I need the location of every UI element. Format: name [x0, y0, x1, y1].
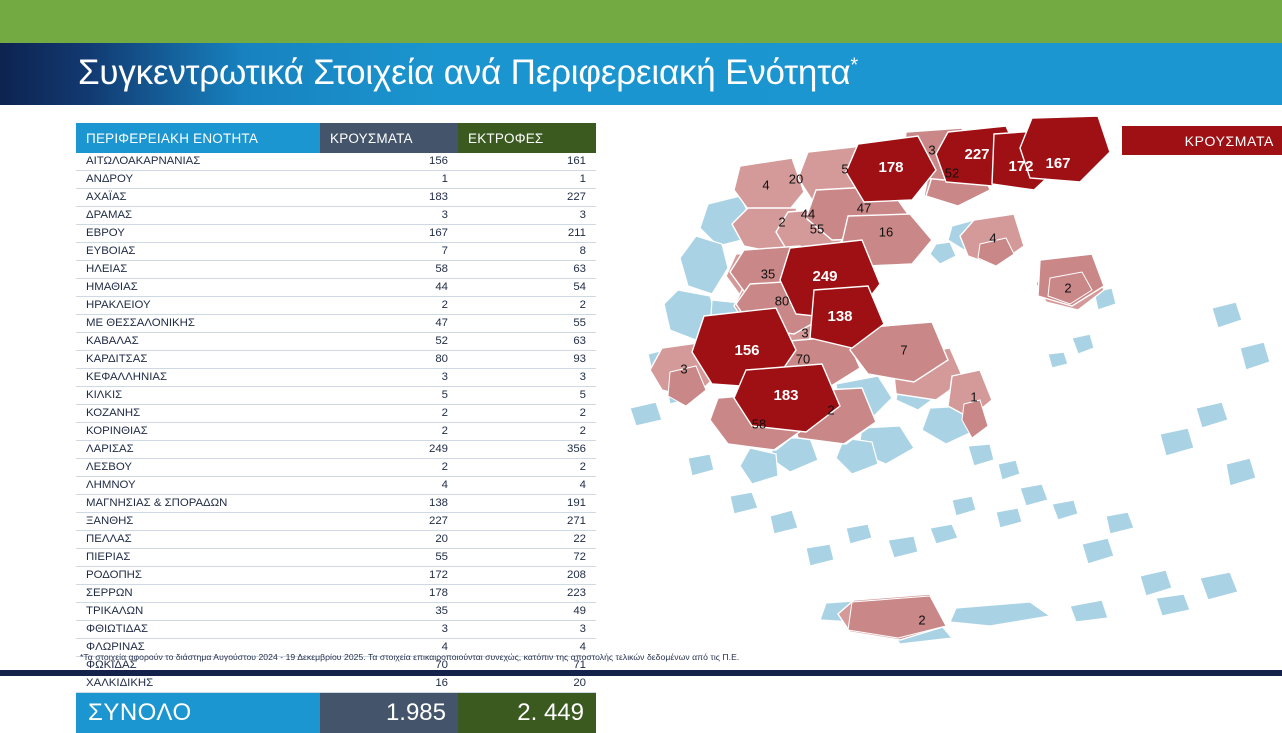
cell-cases: 167 — [320, 225, 458, 243]
cell-region: ΛΗΜΝΟΥ — [76, 477, 320, 495]
table-total-row: ΣΥΝΟΛΟ 1.985 2. 449 — [76, 693, 596, 733]
cell-region: ΔΡΑΜΑΣ — [76, 207, 320, 225]
table-row[interactable]: ΔΡΑΜΑΣ33 — [76, 207, 596, 225]
cell-region: ΧΑΛΚΙΔΙΚΗΣ — [76, 675, 320, 693]
table-row[interactable]: ΚΑΒΑΛΑΣ5263 — [76, 333, 596, 351]
map-label-androu: 1 — [970, 389, 977, 404]
cell-region: ΕΒΡΟΥ — [76, 225, 320, 243]
table-row[interactable]: ΑΙΤΩΛΟΑΚΑΡΝΑΝΙΑΣ156161 — [76, 153, 596, 171]
table-foot: ΣΥΝΟΛΟ 1.985 2. 449 — [76, 693, 596, 733]
cell-farms: 54 — [458, 279, 596, 297]
cell-cases: 47 — [320, 315, 458, 333]
cell-region: ΛΑΡΙΣΑΣ — [76, 441, 320, 459]
cell-region: ΗΜΑΘΙΑΣ — [76, 279, 320, 297]
cell-farms: 211 — [458, 225, 596, 243]
cell-region: ΑΧΑΪΑΣ — [76, 189, 320, 207]
cell-farms: 20 — [458, 675, 596, 693]
map-label-xanthis: 227 — [964, 146, 989, 163]
cell-cases: 52 — [320, 333, 458, 351]
table-row[interactable]: ΡΟΔΟΠΗΣ172208 — [76, 567, 596, 585]
cell-region: ΤΡΙΚΑΛΩΝ — [76, 603, 320, 621]
map-label-kozanis: 2 — [778, 214, 785, 229]
total-label: ΣΥΝΟΛΟ — [76, 693, 320, 733]
cell-region: ΚΕΦΑΛΛΗΝΙΑΣ — [76, 369, 320, 387]
cell-farms: 63 — [458, 333, 596, 351]
cell-cases: 138 — [320, 495, 458, 513]
total-cases: 1.985 — [320, 693, 458, 733]
map-label-trikalon: 35 — [761, 266, 775, 281]
map-label-thessalonikis: 47 — [857, 200, 871, 215]
map-label-chalkidikis: 16 — [879, 224, 893, 239]
map-label-irakleiou: 2 — [918, 612, 925, 627]
page-title: Συγκεντρωτικά Στοιχεία ανά Περιφερειακή … — [78, 53, 858, 93]
cell-farms: 55 — [458, 315, 596, 333]
cell-farms: 356 — [458, 441, 596, 459]
cell-cases: 183 — [320, 189, 458, 207]
map-label-kavalas: 52 — [945, 165, 959, 180]
column-header-farms[interactable]: ΕΚΤΡΟΦΕΣ — [458, 123, 596, 153]
cell-farms: 63 — [458, 261, 596, 279]
table-row[interactable]: ΤΡΙΚΑΛΩΝ3549 — [76, 603, 596, 621]
cell-region: ΚΑΒΑΛΑΣ — [76, 333, 320, 351]
cell-region: ΚΑΡΔΙΤΣΑΣ — [76, 351, 320, 369]
table-row[interactable]: ΣΕΡΡΩΝ178223 — [76, 585, 596, 603]
table-head: ΠΕΡΙΦΕΡΕΙΑΚΗ ΕΝΟΤΗΤΑ ΚΡΟΥΣΜΑΤΑ ΕΚΤΡΟΦΕΣ — [76, 123, 596, 153]
cell-region: ΑΝΔΡΟΥ — [76, 171, 320, 189]
cell-farms: 5 — [458, 387, 596, 405]
cell-cases: 2 — [320, 405, 458, 423]
column-header-region[interactable]: ΠΕΡΙΦΕΡΕΙΑΚΗ ΕΝΟΤΗΤΑ — [76, 123, 320, 153]
column-header-cases[interactable]: ΚΡΟΥΣΜΑΤΑ — [320, 123, 458, 153]
table-row[interactable]: ΚΟΡΙΝΘΙΑΣ22 — [76, 423, 596, 441]
cell-cases: 55 — [320, 549, 458, 567]
table-row[interactable]: ΜΕ ΘΕΣΣΑΛΟΝΙΚΗΣ4755 — [76, 315, 596, 333]
map-label-dramas: 3 — [928, 142, 935, 157]
table-row[interactable]: ΚΟΖΑΝΗΣ22 — [76, 405, 596, 423]
table-row[interactable]: ΛΗΜΝΟΥ44 — [76, 477, 596, 495]
map-label-florinas: 4 — [762, 177, 769, 192]
map-label-fthiotidas: 3 — [801, 325, 808, 340]
cell-farms: 223 — [458, 585, 596, 603]
map-label-pierias: 55 — [810, 221, 824, 236]
map-svg: 4205178352227172167244554716435249801382… — [600, 108, 1282, 653]
cell-region: ΚΙΛΚΙΣ — [76, 387, 320, 405]
table-row[interactable]: ΕΥΒΟΙΑΣ78 — [76, 243, 596, 261]
cell-region: ΠΙΕΡΙΑΣ — [76, 549, 320, 567]
total-farms: 2. 449 — [458, 693, 596, 733]
cell-region: ΗΡΑΚΛΕΙΟΥ — [76, 297, 320, 315]
cell-cases: 2 — [320, 459, 458, 477]
cell-region: ΣΕΡΡΩΝ — [76, 585, 320, 603]
map-label-fokidas: 70 — [796, 351, 810, 366]
cell-region: ΕΥΒΟΙΑΣ — [76, 243, 320, 261]
cell-cases: 3 — [320, 369, 458, 387]
cell-region: ΜΕ ΘΕΣΣΑΛΟΝΙΚΗΣ — [76, 315, 320, 333]
cell-farms: 2 — [458, 297, 596, 315]
cell-cases: 227 — [320, 513, 458, 531]
table-row[interactable]: ΛΕΣΒΟΥ22 — [76, 459, 596, 477]
cell-farms: 271 — [458, 513, 596, 531]
map-label-kilkis: 5 — [841, 161, 848, 176]
table-row[interactable]: ΗΜΑΘΙΑΣ4454 — [76, 279, 596, 297]
title-bar: Συγκεντρωτικά Στοιχεία ανά Περιφερειακή … — [0, 43, 1282, 105]
cell-cases: 2 — [320, 423, 458, 441]
cell-region: ΑΙΤΩΛΟΑΚΑΡΝΑΝΙΑΣ — [76, 153, 320, 171]
table-row[interactable]: ΑΝΔΡΟΥ11 — [76, 171, 596, 189]
map-label-serron: 178 — [878, 159, 903, 176]
cell-cases: 16 — [320, 675, 458, 693]
cell-cases: 249 — [320, 441, 458, 459]
map-label-korinthias: 2 — [827, 402, 834, 417]
cell-cases: 44 — [320, 279, 458, 297]
cell-farms: 1 — [458, 171, 596, 189]
cell-cases: 5 — [320, 387, 458, 405]
map-label-achaias: 183 — [773, 387, 798, 404]
table-row[interactable]: ΕΒΡΟΥ167211 — [76, 225, 596, 243]
table-row[interactable]: ΚΕΦΑΛΛΗΝΙΑΣ33 — [76, 369, 596, 387]
cell-region: ΗΛΕΙΑΣ — [76, 261, 320, 279]
table-row[interactable]: ΚΙΛΚΙΣ55 — [76, 387, 596, 405]
map-label-aitoloakarnanias: 156 — [734, 342, 759, 359]
cell-region: ΜΑΓΝΗΣΙΑΣ & ΣΠΟΡΑΔΩΝ — [76, 495, 320, 513]
cell-farms: 3 — [458, 207, 596, 225]
map-label-pellas: 20 — [789, 171, 803, 186]
table-row[interactable]: ΑΧΑΪΑΣ183227 — [76, 189, 596, 207]
table-row[interactable]: ΞΑΝΘΗΣ227271 — [76, 513, 596, 531]
cell-farms: 2 — [458, 459, 596, 477]
cell-cases: 1 — [320, 171, 458, 189]
greece-choropleth-map[interactable]: 4205178352227172167244554716435249801382… — [600, 108, 1282, 653]
cell-cases: 3 — [320, 621, 458, 639]
cell-farms: 22 — [458, 531, 596, 549]
cell-region: ΚΟΖΑΝΗΣ — [76, 405, 320, 423]
map-label-evvoias: 7 — [900, 342, 907, 357]
map-label-evrou: 167 — [1045, 155, 1070, 172]
cell-region: ΠΕΛΛΑΣ — [76, 531, 320, 549]
cell-cases: 3 — [320, 207, 458, 225]
cell-farms: 72 — [458, 549, 596, 567]
map-label-magnisias: 138 — [827, 308, 852, 325]
cell-region: ΚΟΡΙΝΘΙΑΣ — [76, 423, 320, 441]
table-row[interactable]: ΗΡΑΚΛΕΙΟΥ22 — [76, 297, 596, 315]
cell-farms: 208 — [458, 567, 596, 585]
map-label-larisas: 249 — [812, 268, 837, 285]
map-label-ileias: 58 — [752, 416, 766, 431]
table-row[interactable]: ΗΛΕΙΑΣ5863 — [76, 261, 596, 279]
cell-farms: 8 — [458, 243, 596, 261]
cell-farms: 3 — [458, 369, 596, 387]
cell-cases: 7 — [320, 243, 458, 261]
cell-cases: 172 — [320, 567, 458, 585]
cell-cases: 20 — [320, 531, 458, 549]
cell-cases: 4 — [320, 477, 458, 495]
map-label-limnou: 4 — [989, 230, 996, 245]
footnote: *Τα στοιχεία αφορούν το διάστημα Αυγούστ… — [80, 652, 1200, 662]
cell-farms: 191 — [458, 495, 596, 513]
map-label-kefallinias: 3 — [680, 361, 687, 376]
cell-farms: 93 — [458, 351, 596, 369]
map-label-lesvou: 2 — [1064, 280, 1071, 295]
cell-region: ΛΕΣΒΟΥ — [76, 459, 320, 477]
cell-region: ΞΑΝΘΗΣ — [76, 513, 320, 531]
cell-cases: 156 — [320, 153, 458, 171]
cell-region: ΦΘΙΩΤΙΔΑΣ — [76, 621, 320, 639]
cell-farms: 3 — [458, 621, 596, 639]
map-label-imathias: 44 — [801, 206, 815, 221]
cell-farms: 161 — [458, 153, 596, 171]
cell-farms: 4 — [458, 477, 596, 495]
table-row[interactable]: ΠΙΕΡΙΑΣ5572 — [76, 549, 596, 567]
map-label-karditsas: 80 — [775, 293, 789, 308]
cell-farms: 2 — [458, 405, 596, 423]
table-row[interactable]: ΜΑΓΝΗΣΙΑΣ & ΣΠΟΡΑΔΩΝ138191 — [76, 495, 596, 513]
cell-cases: 35 — [320, 603, 458, 621]
cell-farms: 2 — [458, 423, 596, 441]
page-title-text: Συγκεντρωτικά Στοιχεία ανά Περιφερειακή … — [78, 53, 850, 92]
bottom-accent-bar — [0, 670, 1282, 676]
cell-farms: 227 — [458, 189, 596, 207]
table-row[interactable]: ΠΕΛΛΑΣ2022 — [76, 531, 596, 549]
table-body: ΑΙΤΩΛΟΑΚΑΡΝΑΝΙΑΣ156161ΑΝΔΡΟΥ11ΑΧΑΪΑΣ1832… — [76, 153, 596, 693]
cell-cases: 58 — [320, 261, 458, 279]
cell-cases: 2 — [320, 297, 458, 315]
cell-farms: 49 — [458, 603, 596, 621]
cell-region: ΡΟΔΟΠΗΣ — [76, 567, 320, 585]
cell-cases: 178 — [320, 585, 458, 603]
page-title-asterisk: * — [850, 55, 858, 77]
summary-table: ΠΕΡΙΦΕΡΕΙΑΚΗ ΕΝΟΤΗΤΑ ΚΡΟΥΣΜΑΤΑ ΕΚΤΡΟΦΕΣ … — [76, 123, 596, 733]
table-row[interactable]: ΛΑΡΙΣΑΣ249356 — [76, 441, 596, 459]
top-accent-bar — [0, 0, 1282, 43]
map-label-rodopis: 172 — [1008, 158, 1033, 175]
summary-table-panel: ΠΕΡΙΦΕΡΕΙΑΚΗ ΕΝΟΤΗΤΑ ΚΡΟΥΣΜΑΤΑ ΕΚΤΡΟΦΕΣ … — [76, 123, 536, 733]
table-row[interactable]: ΦΘΙΩΤΙΔΑΣ33 — [76, 621, 596, 639]
cell-cases: 80 — [320, 351, 458, 369]
table-header-row: ΠΕΡΙΦΕΡΕΙΑΚΗ ΕΝΟΤΗΤΑ ΚΡΟΥΣΜΑΤΑ ΕΚΤΡΟΦΕΣ — [76, 123, 596, 153]
table-row[interactable]: ΧΑΛΚΙΔΙΚΗΣ1620 — [76, 675, 596, 693]
table-row[interactable]: ΚΑΡΔΙΤΣΑΣ8093 — [76, 351, 596, 369]
